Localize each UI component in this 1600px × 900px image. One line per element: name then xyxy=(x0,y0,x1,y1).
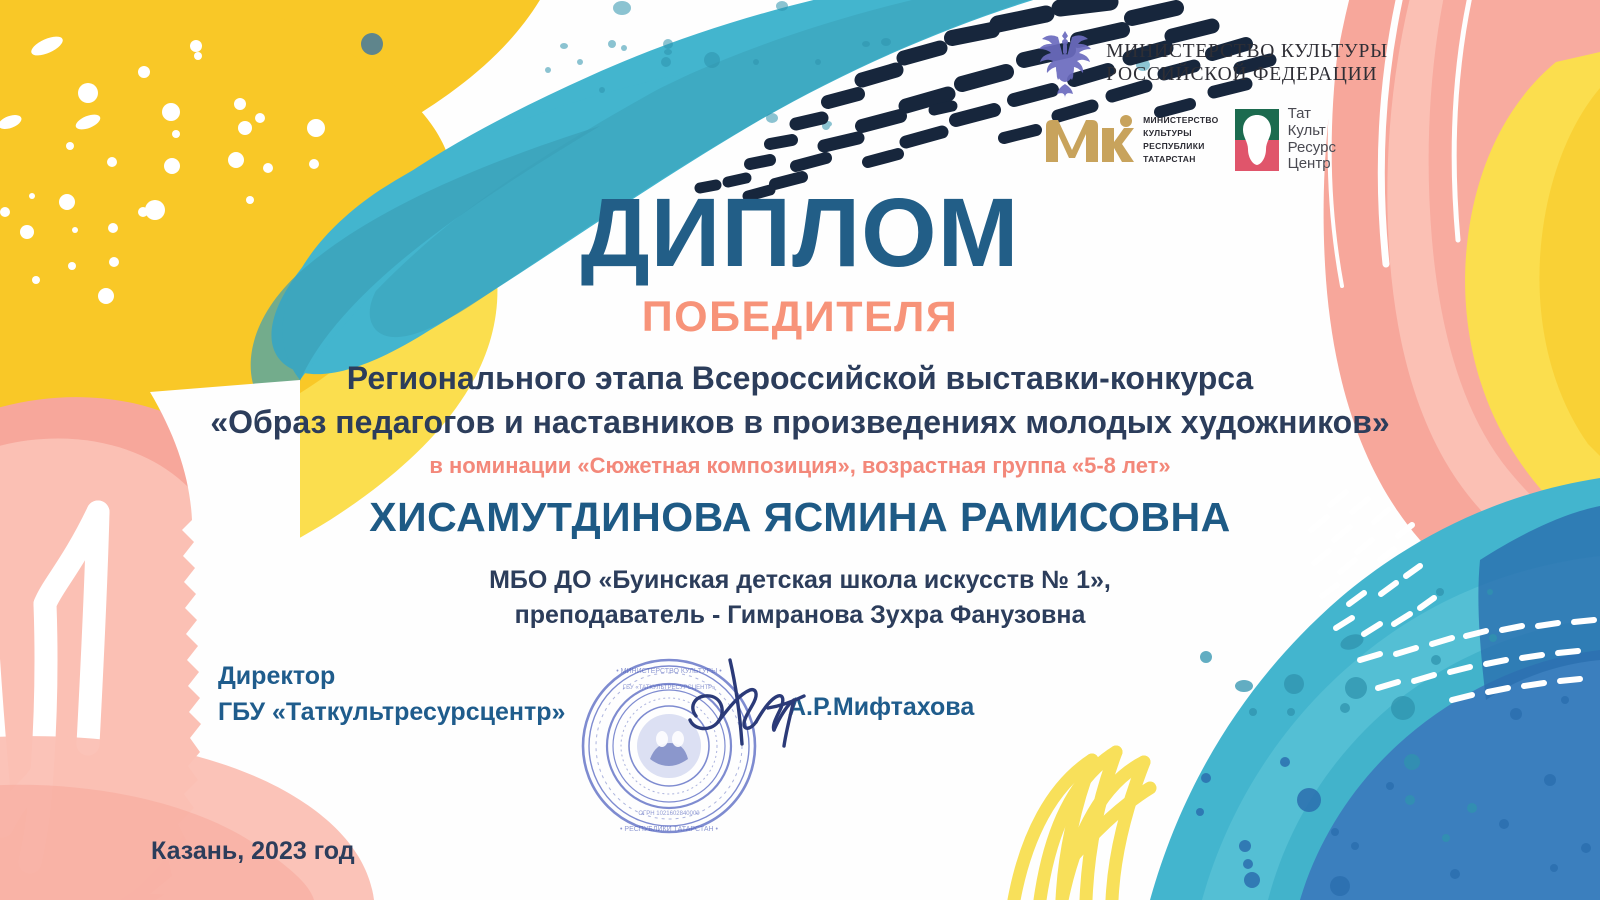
logo-band: МИНИСТЕРСТВО КУЛЬТУРЫ РОССИЙСКОЙ ФЕДЕРАЦ… xyxy=(1036,28,1388,173)
teacher-line: преподаватель - Гимранова Зухра Фанузовн… xyxy=(0,597,1600,633)
ministry-of-culture-rf-text: МИНИСТЕРСТВО КУЛЬТУРЫ РОССИЙСКОЙ ФЕДЕРАЦ… xyxy=(1106,40,1388,86)
nomination-line: в номинации «Сюжетная композиция», возра… xyxy=(0,452,1600,480)
tatar-ornament-square-logo xyxy=(1235,109,1279,171)
mkrt-text: МИНИСТЕРСТВО КУЛЬТУРЫ РЕСПУБЛИКИ ТАТАРСТ… xyxy=(1143,114,1219,166)
mkrt-line-4: ТАТАРСТАН xyxy=(1143,153,1219,166)
institution-line: МБО ДО «Буинская детская школа искусств … xyxy=(0,562,1600,598)
competition-stage-line: Регионального этапа Всероссийской выстав… xyxy=(0,358,1600,398)
certificate-page: МИНИСТЕРСТВО КУЛЬТУРЫ РОССИЙСКОЙ ФЕДЕРАЦ… xyxy=(0,0,1600,900)
svg-text:• РЕСПУБЛИКИ ТАТАРСТАН •: • РЕСПУБЛИКИ ТАТАРСТАН • xyxy=(620,826,719,833)
tkrc-text: Тат Культ Ресурс Центр xyxy=(1288,106,1336,173)
russian-double-headed-eagle-emblem xyxy=(1036,28,1094,98)
blue-blob-bottom-right xyxy=(1300,650,1600,900)
secondary-logos-row: МИНИСТЕРСТВО КУЛЬТУРЫ РЕСПУБЛИКИ ТАТАРСТ… xyxy=(1036,106,1336,173)
tkrc-line-2: Культ xyxy=(1288,123,1336,140)
teal-dot-accent xyxy=(361,33,383,55)
mincult-line-1: МИНИСТЕРСТВО КУЛЬТУРЫ xyxy=(1106,40,1388,63)
mkrt-line-3: РЕСПУБЛИКИ xyxy=(1143,140,1219,153)
blue-dots-bottom-right xyxy=(1196,696,1591,896)
signatory-role: Директор xyxy=(218,659,565,695)
certificate-subtitle: ПОБЕДИТЕЛЯ xyxy=(0,296,1600,339)
signatory-organization: ГБУ «Таткультресурсцентр» xyxy=(218,695,565,731)
tkrc-line-4: Центр xyxy=(1288,156,1336,173)
city-and-year: Казань, 2023 год xyxy=(151,837,355,866)
certificate-title: ДИПЛОМ xyxy=(0,184,1600,281)
signatory-block: Директор ГБУ «Таткультресурсцентр» xyxy=(218,659,565,730)
ministry-of-culture-rf-logo: МИНИСТЕРСТВО КУЛЬТУРЫ РОССИЙСКОЙ ФЕДЕРАЦ… xyxy=(1036,28,1388,98)
tkrc-line-3: Ресурс xyxy=(1288,140,1336,157)
tatkultresurscentr-logo: Тат Культ Ресурс Центр xyxy=(1235,106,1336,173)
ministry-of-culture-tatarstan-logo: МИНИСТЕРСТВО КУЛЬТУРЫ РЕСПУБЛИКИ ТАТАРСТ… xyxy=(1042,114,1219,166)
mkrt-line-2: КУЛЬТУРЫ xyxy=(1143,127,1219,140)
recipient-name: ХИСАМУТДИНОВА ЯСМИНА РАМИСОВНА xyxy=(0,492,1600,543)
mincult-line-2: РОССИЙСКОЙ ФЕДЕРАЦИИ xyxy=(1106,63,1388,86)
teal-wave-bottom-right-mid xyxy=(1268,618,1600,900)
mk-monogram-logo xyxy=(1042,114,1134,166)
competition-name-line: «Образ педагогов и наставников в произве… xyxy=(0,402,1600,442)
handwritten-signature xyxy=(660,650,820,780)
pink-wash-bottom-left xyxy=(0,736,374,900)
yellow-scribble-bottom xyxy=(1014,752,1150,900)
tkrc-line-1: Тат xyxy=(1288,106,1336,123)
mkrt-line-1: МИНИСТЕРСТВО xyxy=(1143,114,1219,127)
